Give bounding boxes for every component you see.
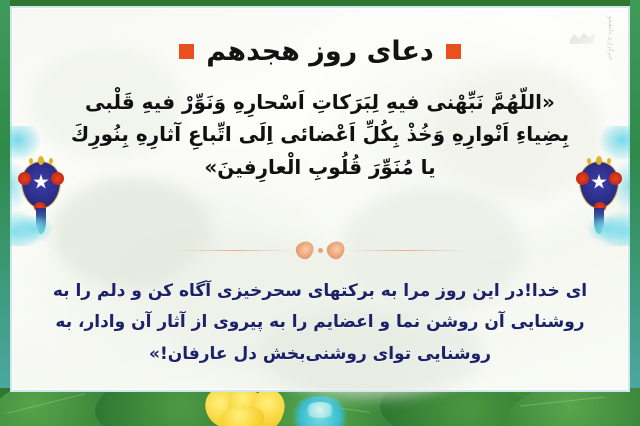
islamic-medallion-left	[10, 126, 72, 246]
persian-line: ای خدا!در این روز مرا به بركتهای سحرخیزی…	[52, 276, 588, 307]
content-card: خبرگزاری دانشجو دعای روز هجدهم «اللّهُمَ…	[10, 6, 630, 392]
persian-translation-block: ای خدا!در این روز مرا به بركتهای سحرخیزی…	[52, 276, 588, 370]
bullet-square-right-icon	[446, 44, 461, 59]
medallion-cyan-bottom	[12, 212, 64, 246]
page-title-row: دعای روز هجدهم	[12, 30, 628, 72]
ornamental-divider	[12, 240, 628, 260]
persian-line: روشنایی توای روشنی‌بخش دل عارفان!»	[52, 339, 588, 370]
medallion-red-accent	[576, 172, 589, 185]
medallion-core	[574, 156, 624, 214]
medallion-gold-tip	[587, 158, 591, 164]
poster: خبرگزاری دانشجو دعای روز هجدهم «اللّهُمَ…	[0, 0, 640, 426]
islamic-medallion-right	[568, 126, 630, 246]
page-title: دعای روز هجدهم	[206, 38, 434, 65]
medallion-cyan-bottom	[576, 212, 628, 246]
frame-edge-left	[0, 0, 10, 388]
yellow-flower	[200, 386, 292, 426]
medallion-gold-tip	[29, 158, 33, 164]
arabic-dua-block: «اللّهُمَّ نَبِّهْنی فیهِ لِبَرَكاتِ اَس…	[58, 86, 582, 183]
medallion-red-accent	[609, 172, 622, 185]
cyan-ornament	[290, 396, 350, 426]
bullet-square-left-icon	[179, 44, 194, 59]
medallion-red-accent	[18, 172, 31, 185]
medallion-gold-tip	[596, 156, 602, 165]
divider-line-left	[347, 250, 467, 251]
medallion-gold-tip	[38, 156, 44, 165]
persian-line: روشنایی آن روشن نما و اعضایم را به پیروی…	[52, 307, 588, 338]
arabic-line: بِضِیاءِ اَنْوارِهِ وَخُذْ بِكُلِّ اَعْض…	[58, 118, 582, 150]
medallion-gold-tip	[607, 158, 611, 164]
arabic-line: یا مُنَوِّرَ قُلُوبِ الْعارِفینَ»	[58, 151, 582, 183]
divider-diamond	[323, 238, 348, 263]
medallion-core	[16, 156, 66, 214]
medallion-gold-tip	[49, 158, 53, 164]
divider-dot	[318, 248, 323, 253]
divider-line-right	[174, 250, 294, 251]
arabic-line: «اللّهُمَّ نَبِّهْنی فیهِ لِبَرَكاتِ اَس…	[58, 86, 582, 118]
frame-edge-right	[630, 0, 640, 388]
divider-diamond	[292, 238, 317, 263]
medallion-red-accent	[51, 172, 64, 185]
